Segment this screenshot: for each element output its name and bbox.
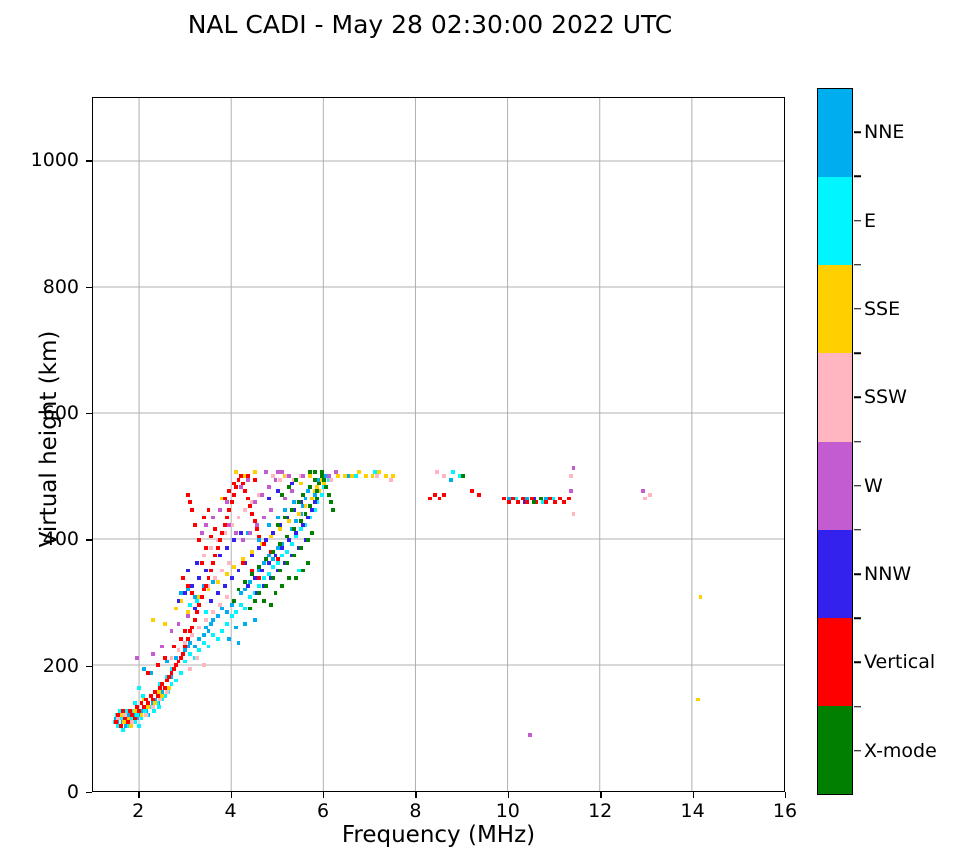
echo-marker xyxy=(165,660,169,664)
echo-marker xyxy=(304,497,308,501)
echo-marker xyxy=(246,584,250,588)
echo-marker xyxy=(186,584,190,588)
colorbar-segment-w[interactable] xyxy=(818,442,852,530)
colorbar-segment-sse[interactable] xyxy=(818,265,852,353)
echo-marker xyxy=(572,466,576,470)
echo-marker xyxy=(241,538,245,542)
echo-marker xyxy=(209,546,213,550)
echo-marker xyxy=(276,516,280,520)
echo-marker xyxy=(264,470,268,474)
echo-marker xyxy=(572,512,576,516)
echo-marker xyxy=(146,671,150,675)
echo-marker xyxy=(276,557,280,561)
colorbar-segment-x-mode[interactable] xyxy=(818,706,852,794)
echo-marker xyxy=(177,622,181,626)
echo-marker xyxy=(142,705,146,709)
echo-marker xyxy=(271,565,275,569)
echo-marker xyxy=(507,500,511,504)
echo-marker xyxy=(324,485,328,489)
x-tick-label: 12 xyxy=(588,800,612,822)
echo-marker xyxy=(179,591,183,595)
echo-marker xyxy=(269,508,273,512)
echo-marker xyxy=(213,527,217,531)
echo-marker xyxy=(204,546,208,550)
echo-marker xyxy=(218,538,222,542)
echo-marker xyxy=(544,500,548,504)
echo-marker xyxy=(167,675,171,679)
echo-marker xyxy=(218,603,222,607)
echo-marker xyxy=(204,523,208,527)
echo-marker xyxy=(156,694,160,698)
echo-marker xyxy=(313,478,317,482)
echo-marker xyxy=(278,569,282,573)
echo-marker xyxy=(179,671,183,675)
echo-marker xyxy=(227,489,231,493)
echo-marker xyxy=(257,535,261,539)
echo-marker xyxy=(234,485,238,489)
echo-marker xyxy=(188,641,192,645)
echo-marker xyxy=(428,497,432,501)
echo-marker xyxy=(343,474,347,478)
colorbar-tick-mark xyxy=(854,397,861,399)
echo-marker xyxy=(308,485,312,489)
echo-marker xyxy=(257,546,261,550)
echo-marker xyxy=(257,584,261,588)
echo-marker xyxy=(292,554,296,558)
echo-marker xyxy=(202,516,206,520)
echo-marker xyxy=(267,485,271,489)
echo-marker xyxy=(384,474,388,478)
echo-marker xyxy=(262,599,266,603)
page-title: NAL CADI - May 28 02:30:00 2022 UTC xyxy=(0,10,860,39)
echo-marker xyxy=(220,607,224,611)
echo-marker xyxy=(243,588,247,592)
echo-marker xyxy=(165,679,169,683)
echo-marker xyxy=(269,603,273,607)
echo-marker xyxy=(204,610,208,614)
echo-marker xyxy=(190,508,194,512)
echo-marker xyxy=(294,576,298,580)
echo-marker xyxy=(163,622,167,626)
echo-marker xyxy=(211,580,215,584)
echo-marker xyxy=(186,614,190,618)
echo-marker xyxy=(287,474,291,478)
x-tick-label: 16 xyxy=(773,800,797,822)
colorbar-tick-mark xyxy=(854,485,861,487)
echo-marker xyxy=(322,478,326,482)
echo-marker xyxy=(262,561,266,565)
echo-marker xyxy=(142,667,146,671)
echo-marker xyxy=(243,580,247,584)
echo-marker xyxy=(137,686,141,690)
colorbar-label-ssw: SSW xyxy=(864,386,907,408)
colorbar-tick-mark xyxy=(854,662,861,664)
echo-marker xyxy=(177,660,181,664)
colorbar-segment-nne[interactable] xyxy=(818,89,852,177)
echo-marker xyxy=(528,733,532,737)
echo-marker xyxy=(133,717,137,721)
echo-marker xyxy=(197,626,201,630)
echo-marker xyxy=(237,569,241,573)
echo-marker xyxy=(641,489,645,493)
x-tick-mark xyxy=(693,792,694,798)
x-tick-mark xyxy=(508,792,509,798)
echo-marker xyxy=(211,610,215,614)
echo-marker xyxy=(569,474,573,478)
echo-marker xyxy=(246,474,250,478)
echo-marker xyxy=(202,633,206,637)
echo-marker xyxy=(442,493,446,497)
echo-marker xyxy=(553,500,557,504)
echo-marker xyxy=(230,614,234,618)
echo-marker xyxy=(204,618,208,622)
echo-marker xyxy=(232,538,236,542)
x-tick-mark xyxy=(785,792,786,798)
echo-marker xyxy=(320,493,324,497)
echo-marker xyxy=(304,504,308,508)
colorbar-segment-e[interactable] xyxy=(818,177,852,265)
echo-marker xyxy=(204,584,208,588)
colorbar-tick-mark xyxy=(854,750,861,752)
echo-marker xyxy=(193,645,197,649)
echo-marker xyxy=(160,645,164,649)
echo-marker xyxy=(163,656,167,660)
echo-marker xyxy=(146,701,150,705)
echo-marker xyxy=(267,497,271,501)
echo-marker xyxy=(308,504,312,508)
echo-marker xyxy=(253,470,257,474)
x-tick-label: 6 xyxy=(317,800,329,822)
y-tick-mark xyxy=(86,792,92,793)
echo-marker xyxy=(253,618,257,622)
echo-marker xyxy=(271,576,275,580)
echo-marker xyxy=(299,482,303,486)
echo-marker xyxy=(188,500,192,504)
echo-marker xyxy=(119,724,123,728)
echo-marker xyxy=(248,504,252,508)
echo-marker xyxy=(237,516,241,520)
echo-marker xyxy=(260,493,264,497)
echo-marker xyxy=(197,603,201,607)
echo-marker xyxy=(163,686,167,690)
echo-marker xyxy=(287,519,291,523)
echo-marker xyxy=(144,713,148,717)
echo-marker xyxy=(237,478,241,482)
echo-marker xyxy=(433,493,437,497)
echo-marker xyxy=(183,660,187,664)
x-tick-label: 2 xyxy=(132,800,144,822)
echo-marker xyxy=(237,588,241,592)
echo-marker xyxy=(220,569,224,573)
echo-marker xyxy=(227,637,231,641)
echo-marker xyxy=(278,527,282,531)
echo-marker xyxy=(193,523,197,527)
echo-marker xyxy=(239,531,243,535)
echo-marker xyxy=(250,512,254,516)
echo-marker xyxy=(567,497,571,501)
echo-marker xyxy=(327,493,331,497)
echo-marker xyxy=(188,667,192,671)
echo-marker xyxy=(188,652,192,656)
plot-area[interactable] xyxy=(92,97,785,792)
echo-marker xyxy=(308,470,312,474)
echo-marker xyxy=(274,478,278,482)
echo-marker xyxy=(243,622,247,626)
echo-marker xyxy=(280,584,284,588)
echo-marker xyxy=(202,663,206,667)
y-tick-mark xyxy=(86,160,92,161)
colorbar-segment-vertical[interactable] xyxy=(818,618,852,706)
echo-marker xyxy=(290,508,294,512)
echo-marker xyxy=(317,482,321,486)
echo-marker xyxy=(477,493,481,497)
echo-marker xyxy=(271,531,275,535)
echo-marker xyxy=(267,561,271,565)
echo-marker xyxy=(172,667,176,671)
echo-marker xyxy=(170,656,174,660)
echo-marker xyxy=(174,679,178,683)
echo-marker xyxy=(271,550,275,554)
echo-marker xyxy=(207,576,211,580)
echo-marker xyxy=(216,580,220,584)
echo-marker xyxy=(151,705,155,709)
echo-marker xyxy=(202,641,206,645)
echo-marker xyxy=(220,629,224,633)
colorbar-segment-ssw[interactable] xyxy=(818,353,852,441)
echo-marker xyxy=(211,618,215,622)
echo-marker xyxy=(190,633,194,637)
colorbar[interactable] xyxy=(817,88,853,795)
echo-marker xyxy=(278,478,282,482)
echo-marker xyxy=(449,478,453,482)
echo-marker xyxy=(558,497,562,501)
echo-marker xyxy=(336,474,340,478)
echo-marker xyxy=(511,497,515,501)
echo-marker xyxy=(170,629,174,633)
echo-marker xyxy=(232,599,236,603)
echo-marker xyxy=(140,717,144,721)
echo-marker xyxy=(294,519,298,523)
echo-marker xyxy=(195,561,199,565)
colorbar-boundary-tick xyxy=(854,264,861,266)
echo-marker xyxy=(276,546,280,550)
echo-marker xyxy=(264,557,268,561)
colorbar-label-e: E xyxy=(864,210,876,232)
echo-marker xyxy=(502,497,506,501)
echo-marker xyxy=(331,508,335,512)
echo-marker xyxy=(183,645,187,649)
colorbar-boundary-tick xyxy=(854,706,861,708)
echo-marker xyxy=(327,474,331,478)
echo-marker xyxy=(197,637,201,641)
y-tick-mark xyxy=(86,539,92,540)
echo-marker xyxy=(696,698,700,702)
echo-marker xyxy=(225,546,229,550)
echo-marker xyxy=(195,656,199,660)
echo-marker xyxy=(470,489,474,493)
echo-marker xyxy=(290,542,294,546)
echo-marker xyxy=(140,713,144,717)
echo-marker xyxy=(130,720,134,724)
echo-marker xyxy=(306,516,310,520)
echo-marker xyxy=(186,637,190,641)
echo-marker xyxy=(267,523,271,527)
echo-marker xyxy=(329,478,333,482)
echo-marker xyxy=(306,489,310,493)
echo-marker xyxy=(287,485,291,489)
echo-marker xyxy=(200,531,204,535)
echo-marker xyxy=(243,489,247,493)
echo-marker xyxy=(301,523,305,527)
x-tick-label: 14 xyxy=(681,800,705,822)
echo-marker xyxy=(276,561,280,565)
echo-marker xyxy=(299,519,303,523)
echo-marker xyxy=(257,591,261,595)
echo-marker xyxy=(248,531,252,535)
echo-marker xyxy=(218,508,222,512)
echo-marker xyxy=(299,546,303,550)
echo-marker xyxy=(225,610,229,614)
ionogram-figure: NAL CADI - May 28 02:30:00 2022 UTC 2468… xyxy=(0,0,958,857)
echo-marker xyxy=(569,489,573,493)
echo-marker xyxy=(313,500,317,504)
echo-marker xyxy=(521,497,525,501)
echo-marker xyxy=(257,565,261,569)
echo-marker xyxy=(216,546,220,550)
echo-marker xyxy=(223,497,227,501)
x-tick-mark xyxy=(231,792,232,798)
echo-marker xyxy=(435,470,439,474)
echo-marker xyxy=(285,561,289,565)
echo-marker xyxy=(211,516,215,520)
echo-marker xyxy=(200,595,204,599)
colorbar-label-nne: NNE xyxy=(864,121,904,143)
echo-marker xyxy=(207,588,211,592)
echo-marker xyxy=(301,474,305,478)
echo-marker xyxy=(280,546,284,550)
echo-marker xyxy=(177,648,181,652)
echo-marker xyxy=(230,500,234,504)
echo-marker xyxy=(357,470,361,474)
echo-marker xyxy=(209,569,213,573)
echo-marker xyxy=(188,603,192,607)
colorbar-tick-mark xyxy=(854,131,861,133)
colorbar-segment-nnw[interactable] xyxy=(818,530,852,618)
echo-marker xyxy=(241,561,245,565)
echo-marker xyxy=(225,622,229,626)
echo-marker xyxy=(230,603,234,607)
echo-marker xyxy=(237,641,241,645)
echo-marker xyxy=(211,633,215,637)
echo-marker xyxy=(225,516,229,520)
echo-marker xyxy=(223,584,227,588)
echo-marker xyxy=(283,497,287,501)
echo-marker xyxy=(225,595,229,599)
echo-marker xyxy=(158,686,162,690)
x-axis-label: Frequency (MHz) xyxy=(92,822,785,848)
echo-marker xyxy=(204,569,208,573)
echo-marker xyxy=(699,595,703,599)
y-tick-mark xyxy=(86,413,92,414)
echo-marker xyxy=(253,500,257,504)
echo-marker xyxy=(299,527,303,531)
echo-marker xyxy=(151,618,155,622)
echo-marker xyxy=(350,474,354,478)
echo-marker xyxy=(287,538,291,542)
colorbar-boundary-tick xyxy=(854,618,861,620)
echo-marker xyxy=(234,531,238,535)
colorbar-label-nnw: NNW xyxy=(864,563,911,585)
echo-marker xyxy=(243,508,247,512)
echo-marker xyxy=(186,493,190,497)
echo-marker xyxy=(137,709,141,713)
echo-marker xyxy=(190,591,194,595)
echo-marker xyxy=(294,478,298,482)
echo-marker xyxy=(197,576,201,580)
colorbar-label-vertical: Vertical xyxy=(864,651,935,673)
echo-marker xyxy=(239,591,243,595)
echo-marker xyxy=(137,724,141,728)
y-tick-mark xyxy=(86,666,92,667)
echo-marker xyxy=(181,576,185,580)
echo-marker xyxy=(227,523,231,527)
echo-marker xyxy=(172,645,176,649)
echo-marker xyxy=(269,535,273,539)
echo-marker xyxy=(562,500,566,504)
echo-marker xyxy=(129,724,133,728)
echo-marker xyxy=(116,713,120,717)
echo-marker xyxy=(146,705,150,709)
echo-marker xyxy=(218,554,222,558)
echo-marker xyxy=(250,554,254,558)
echo-marker xyxy=(126,720,130,724)
scatter-data-layer xyxy=(93,98,784,791)
echo-marker xyxy=(253,519,257,523)
echo-marker xyxy=(294,535,298,539)
echo-marker xyxy=(114,720,118,724)
echo-marker xyxy=(220,531,224,535)
echo-marker xyxy=(310,531,314,535)
echo-marker xyxy=(461,474,465,478)
echo-marker xyxy=(121,709,125,713)
echo-marker xyxy=(234,610,238,614)
echo-marker xyxy=(250,572,254,576)
echo-marker xyxy=(280,493,284,497)
echo-marker xyxy=(239,474,243,478)
echo-marker xyxy=(308,474,312,478)
echo-marker xyxy=(170,671,174,675)
echo-marker xyxy=(190,584,194,588)
echo-marker xyxy=(297,500,301,504)
echo-marker xyxy=(329,500,333,504)
x-tick-label: 8 xyxy=(409,800,421,822)
echo-marker xyxy=(320,470,324,474)
echo-marker xyxy=(313,470,317,474)
y-tick-mark xyxy=(86,287,92,288)
colorbar-boundary-tick xyxy=(854,176,861,178)
echo-marker xyxy=(253,599,257,603)
echo-marker xyxy=(174,607,178,611)
echo-marker xyxy=(248,607,252,611)
echo-marker xyxy=(334,470,338,474)
colorbar-label-x-mode: X-mode xyxy=(864,740,937,762)
echo-marker xyxy=(200,561,204,565)
echo-marker xyxy=(179,656,183,660)
echo-marker xyxy=(280,470,284,474)
echo-marker xyxy=(283,516,287,520)
echo-marker xyxy=(158,698,162,702)
echo-marker xyxy=(234,626,238,630)
